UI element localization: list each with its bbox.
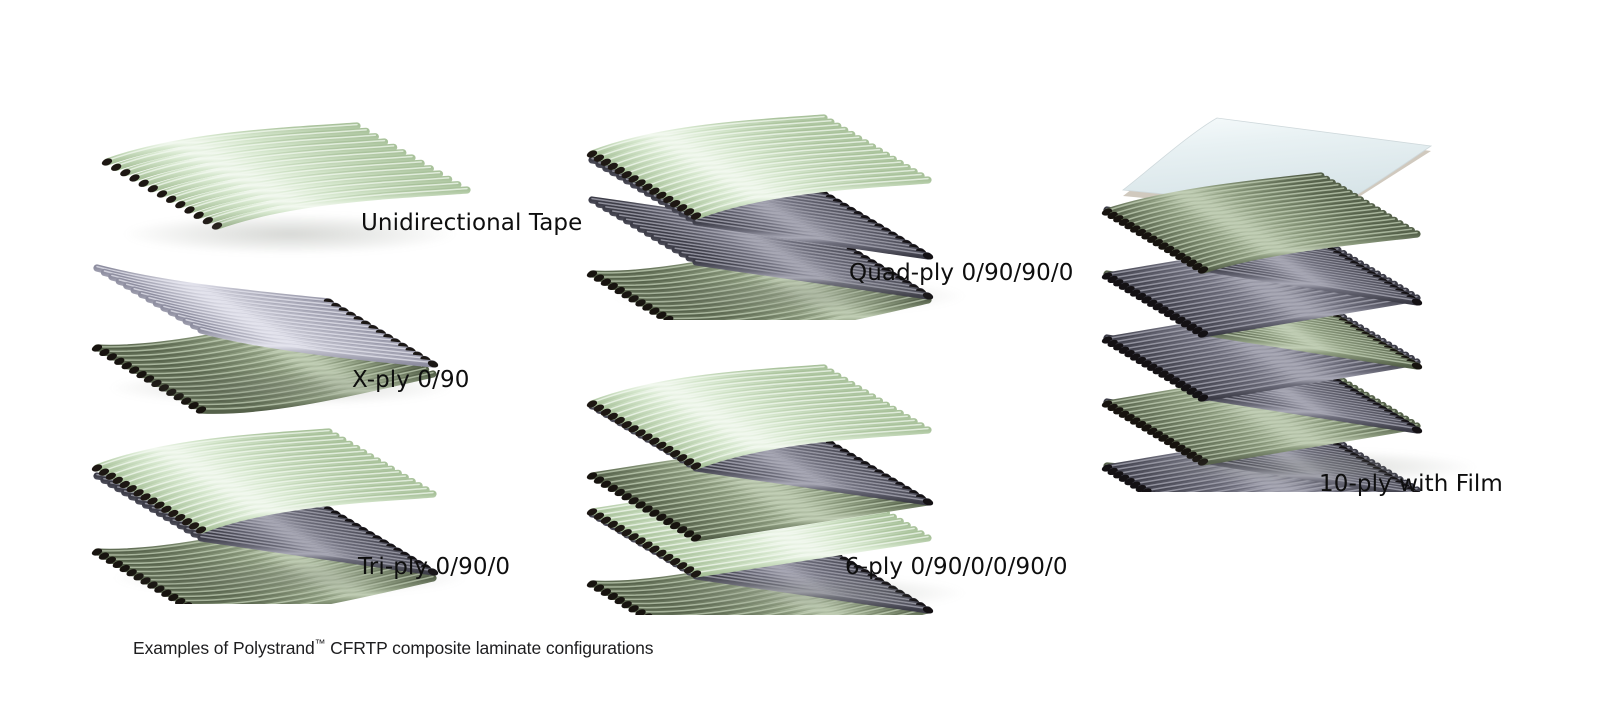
caption-text-after: CFRTP composite laminate configurations (325, 638, 653, 658)
figure-label-six-ply: 6-ply 0/90/0/0/90/0 (845, 554, 1068, 580)
caption: Examples of Polystrand™ CFRTP composite … (133, 638, 653, 659)
figure-quad-ply (580, 110, 990, 325)
figure-tri-ply (85, 424, 495, 609)
figure-label-unidirectional-tape: Unidirectional Tape (361, 210, 582, 236)
ten-ply-graphic (1095, 112, 1495, 492)
figure-ten-ply-with-film (1095, 112, 1495, 497)
figure-label-ten-ply-with-film: 10-ply with Film (1319, 471, 1503, 497)
illustration-canvas: Unidirectional Tape X-ply 0/90 Tri-ply 0… (0, 0, 1606, 722)
quad-ply-graphic (580, 110, 990, 320)
figure-unidirectional-tape (95, 118, 495, 273)
figure-six-ply (580, 360, 990, 620)
figure-label-tri-ply: Tri-ply 0/90/0 (358, 554, 510, 580)
figure-x-ply (85, 258, 485, 423)
figure-label-quad-ply: Quad-ply 0/90/90/0 (849, 260, 1073, 286)
figure-label-x-ply: X-ply 0/90 (352, 367, 469, 393)
unidirectional-tape-graphic (95, 118, 495, 268)
trademark-symbol: ™ (315, 638, 326, 650)
caption-text-before: Examples of Polystrand (133, 638, 315, 658)
x-ply-graphic (85, 258, 485, 418)
